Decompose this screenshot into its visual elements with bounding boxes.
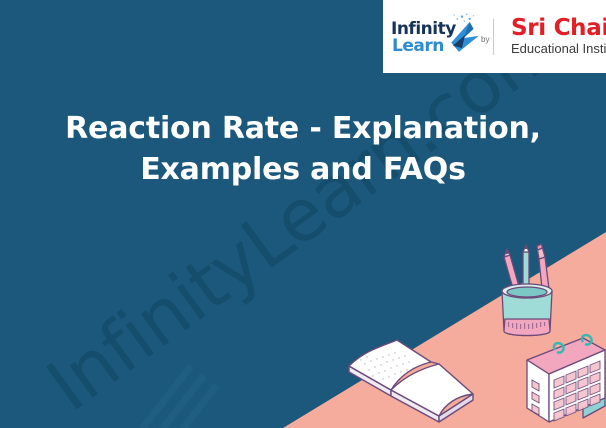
logo-by-label: by <box>481 35 489 44</box>
logo-connector: by <box>483 15 505 59</box>
logo-divider <box>493 19 494 55</box>
sri-chaitanya-logo[interactable]: Sri Chaitanya Educational Institutions <box>505 17 600 57</box>
sri-chaitanya-name: Sri Chaitanya <box>511 17 600 40</box>
page-title: Reaction Rate - Explanation, Examples an… <box>40 108 566 191</box>
infinity-learn-line2: Learn <box>392 38 444 55</box>
infinity-learn-arrow-icon <box>439 12 485 58</box>
brand-logo-box[interactable]: Infinity Learn by <box>383 0 606 73</box>
sri-chaitanya-subtitle: Educational Institutions <box>511 42 600 56</box>
desk-calendar-icon <box>521 330 606 428</box>
pencil-cup-icon <box>492 243 562 343</box>
open-book-icon <box>335 330 475 426</box>
infinity-learn-logo[interactable]: Infinity Learn <box>391 7 483 67</box>
thumbnail-canvas: InfinityLearn.com Infinity Learn <box>0 0 606 428</box>
